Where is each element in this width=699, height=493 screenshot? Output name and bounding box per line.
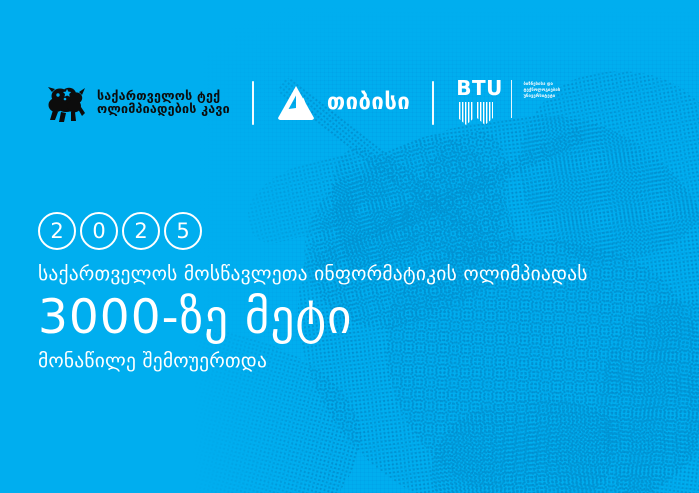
headline-subtitle: საქართველოს მოსწავლეთა ინფორმატიკის ოლიმ…: [38, 262, 678, 286]
btu-subtitle: ბიზნესისა და ტექნოლოგიების უნივერსიტეტი: [523, 78, 560, 99]
btu-book-icon: [456, 101, 496, 127]
logo-divider-1: [252, 81, 254, 125]
btu-subtitle-line3: უნივერსიტეტი: [523, 93, 560, 99]
olympiad-wordmark: საქართველოს ტექ ოლიმპიადების კავი: [97, 90, 230, 116]
btu-subtitle-line2: ტექნოლოგიების: [523, 87, 560, 93]
headline-main: 3000-ზე მეტი: [38, 292, 678, 345]
tbc-triangle-icon: [276, 85, 316, 121]
year-digit-3: 2: [122, 212, 160, 250]
logo-btu[interactable]: BTU ბიზნესისა და ტექნოლოგიების უნივერსიტ…: [456, 78, 560, 127]
olympiad-wordmark-line2: ოლიმპიადების კავი: [97, 103, 230, 116]
halftone-fox-foot: [421, 384, 629, 493]
logo-divider-2: [432, 81, 434, 125]
olympiad-mascot-icon: [46, 83, 88, 123]
year-badge-2025: 2 0 2 5: [38, 212, 678, 250]
logo-tbc[interactable]: თიბისი: [276, 85, 410, 121]
headline-bottom: მონაწილე შემოუერთდა: [38, 349, 678, 373]
year-digit-2: 0: [80, 212, 118, 250]
btu-wordmark: BTU: [456, 78, 503, 98]
announcement-content: 2 0 2 5 საქართველოს მოსწავლეთა ინფორმატი…: [38, 212, 678, 373]
background-fade-top: [0, 0, 699, 70]
logo-olympiad[interactable]: საქართველოს ტექ ოლიმპიადების კავი: [46, 83, 230, 123]
btu-left-group: BTU: [456, 78, 503, 127]
tbc-wordmark: თიბისი: [327, 92, 410, 114]
year-digit-1: 2: [38, 212, 76, 250]
year-digit-4: 5: [164, 212, 202, 250]
partner-logo-bar: საქართველოს ტექ ოლიმპიადების კავი თიბისი…: [0, 78, 699, 127]
btu-vertical-rule: [511, 80, 513, 118]
